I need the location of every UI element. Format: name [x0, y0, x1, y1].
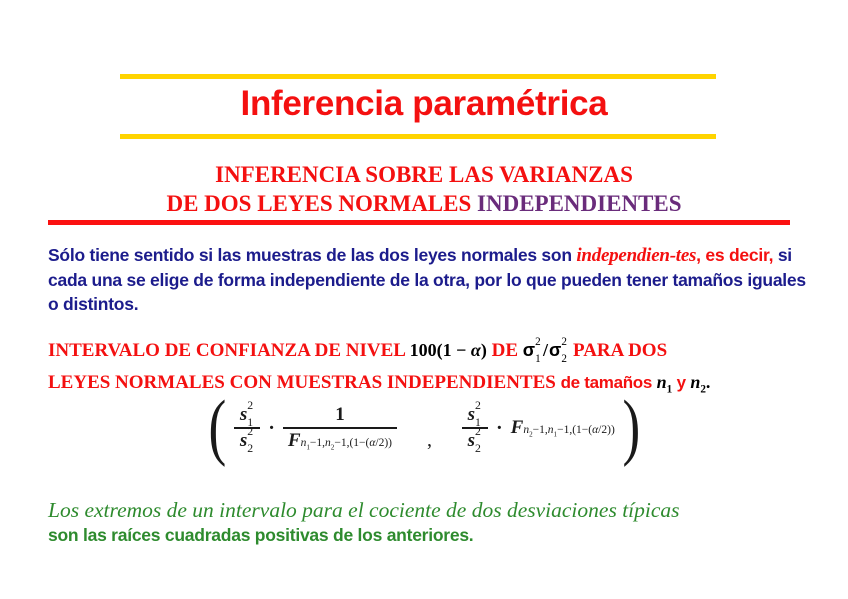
- fraction-numerator: s21: [463, 404, 488, 426]
- multiply-operator-2: ·: [496, 418, 503, 438]
- variance-ratio-math: σ21/σ22: [523, 340, 568, 360]
- multiply-operator-1: ·: [268, 418, 275, 438]
- closing-note: Los extremos de un intervalo para el coc…: [48, 497, 828, 548]
- inverse-f-fraction: 1 Fn1−1,n2−1,(1−(α/2)): [283, 404, 397, 452]
- paragraph-part-2: ,: [696, 245, 705, 265]
- confidence-interval-formula: ( s21 s22 · 1 Fn1−1,n2−1,(1−(α/2)) , s21…: [0, 401, 848, 454]
- f-quantile-term: Fn2−1,n1−1,(1−(α/2)): [511, 417, 615, 439]
- sample-sizes-math: n1 y n2.: [652, 372, 710, 392]
- section-divider: [48, 220, 790, 225]
- paragraph-emphasis-independientes: independien-tes: [576, 245, 696, 266]
- fraction-bar: [283, 427, 397, 429]
- closing-line-1: Los extremos de un intervalo para el coc…: [48, 497, 828, 523]
- subtitle-line-2: DE DOS LEYES NORMALES INDEPENDIENTES: [0, 189, 848, 218]
- closing-line-2: son las raíces cuadradas positivas de lo…: [48, 523, 828, 548]
- confidence-level-math: 100(1 − α): [410, 340, 487, 360]
- formula-open-paren: (: [208, 401, 226, 454]
- title-rule-bottom: [120, 134, 716, 139]
- fraction-denominator: s22: [463, 430, 488, 452]
- slide-canvas: Inferencia paramétrica INFERENCIA SOBRE …: [0, 0, 848, 599]
- formula-separator: ,: [427, 429, 432, 454]
- statement-line-1-de: DE: [487, 340, 523, 361]
- variance-ratio-fraction-1: s21 s22: [234, 404, 260, 452]
- variance-ratio-fraction-2: s21 s22: [462, 404, 488, 452]
- statement-line-2-prefix: LEYES NORMALES CON MUESTRAS INDEPENDIENT…: [48, 372, 561, 393]
- statement-line-1: INTERVALO DE CONFIANZA DE NIVEL 100(1 − …: [48, 340, 828, 362]
- statement-line-1-prefix: INTERVALO DE CONFIANZA DE NIVEL: [48, 340, 410, 361]
- fraction-denominator: s22: [235, 430, 260, 452]
- slide-subtitle: INFERENCIA SOBRE LAS VARIANZAS DE DOS LE…: [0, 160, 848, 218]
- fraction-numerator: 1: [330, 404, 350, 426]
- paragraph-emphasis-es-decir: es decir,: [705, 245, 773, 265]
- fraction-denominator: Fn1−1,n2−1,(1−(α/2)): [283, 430, 397, 452]
- subtitle-line-1: INFERENCIA SOBRE LAS VARIANZAS: [0, 160, 848, 189]
- statement-line-1-suffix: PARA DOS: [568, 340, 667, 361]
- subtitle-line-2-red: DE DOS LEYES NORMALES: [166, 191, 477, 216]
- intro-paragraph: Sólo tiene sentido si las muestras de la…: [48, 243, 808, 316]
- fraction-numerator: s21: [235, 404, 260, 426]
- statement-line-2: LEYES NORMALES CON MUESTRAS INDEPENDIENT…: [48, 372, 828, 394]
- page-title: Inferencia paramétrica: [0, 78, 848, 130]
- paragraph-part-1: Sólo tiene sentido si las muestras de la…: [48, 245, 576, 265]
- subtitle-line-2-purple: INDEPENDIENTES: [477, 191, 682, 216]
- formula-close-paren: ): [622, 401, 640, 454]
